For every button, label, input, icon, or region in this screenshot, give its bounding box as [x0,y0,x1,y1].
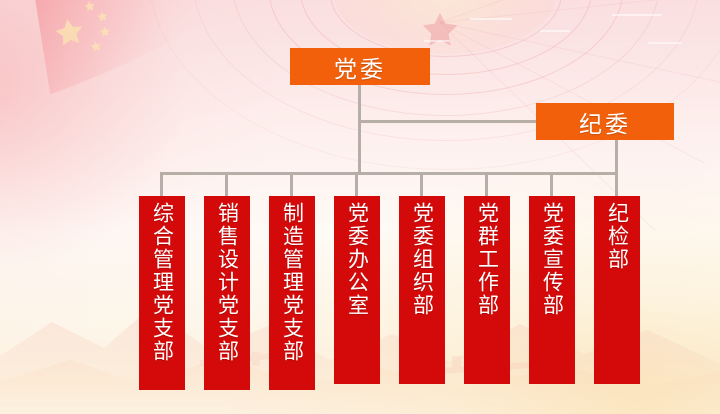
sunburst-spoke [440,22,720,85]
light-streak [424,40,450,42]
node-party-committee[interactable]: 党委 [290,48,430,85]
connector-drop-5 [420,172,423,196]
connector-drop-6 [485,172,488,196]
node-department-7[interactable]: 党委宣传部 [529,196,575,384]
node-department-5[interactable]: 党委组织部 [399,196,445,384]
connector-drop-3 [290,172,293,196]
connector-to-jiwei [358,120,538,123]
node-department-6[interactable]: 党群工作部 [464,196,510,384]
sunburst-core [335,0,555,54]
connector-root-stem [358,85,361,172]
connector-jiwei-stem [615,140,618,196]
connector-drop-2 [225,172,228,196]
light-streak [470,18,512,20]
node-department-8[interactable]: 纪检部 [594,196,640,384]
node-department-3[interactable]: 制造管理党支部 [269,196,315,390]
star-icon [418,8,462,52]
light-streak [540,30,570,32]
light-streak [612,14,662,16]
node-discipline-committee[interactable]: 纪委 [536,103,674,140]
sunburst-spoke [440,22,705,164]
node-department-2[interactable]: 销售设计党支部 [204,196,250,390]
node-department-1[interactable]: 综合管理党支部 [139,196,185,390]
chinese-flag-icon [0,0,267,114]
org-chart-canvas: 党委 纪委 综合管理党支部 销售设计党支部 制造管理党支部 党委办公室 党委组织… [0,0,720,414]
connector-drop-4 [355,172,358,196]
connector-drop-1 [160,172,163,196]
light-streak [648,42,682,44]
sunburst-spoke [440,0,720,23]
node-department-4[interactable]: 党委办公室 [334,196,380,384]
sunburst-spoke [440,0,720,23]
connector-horizontal-bar [160,172,616,175]
connector-drop-7 [550,172,553,196]
